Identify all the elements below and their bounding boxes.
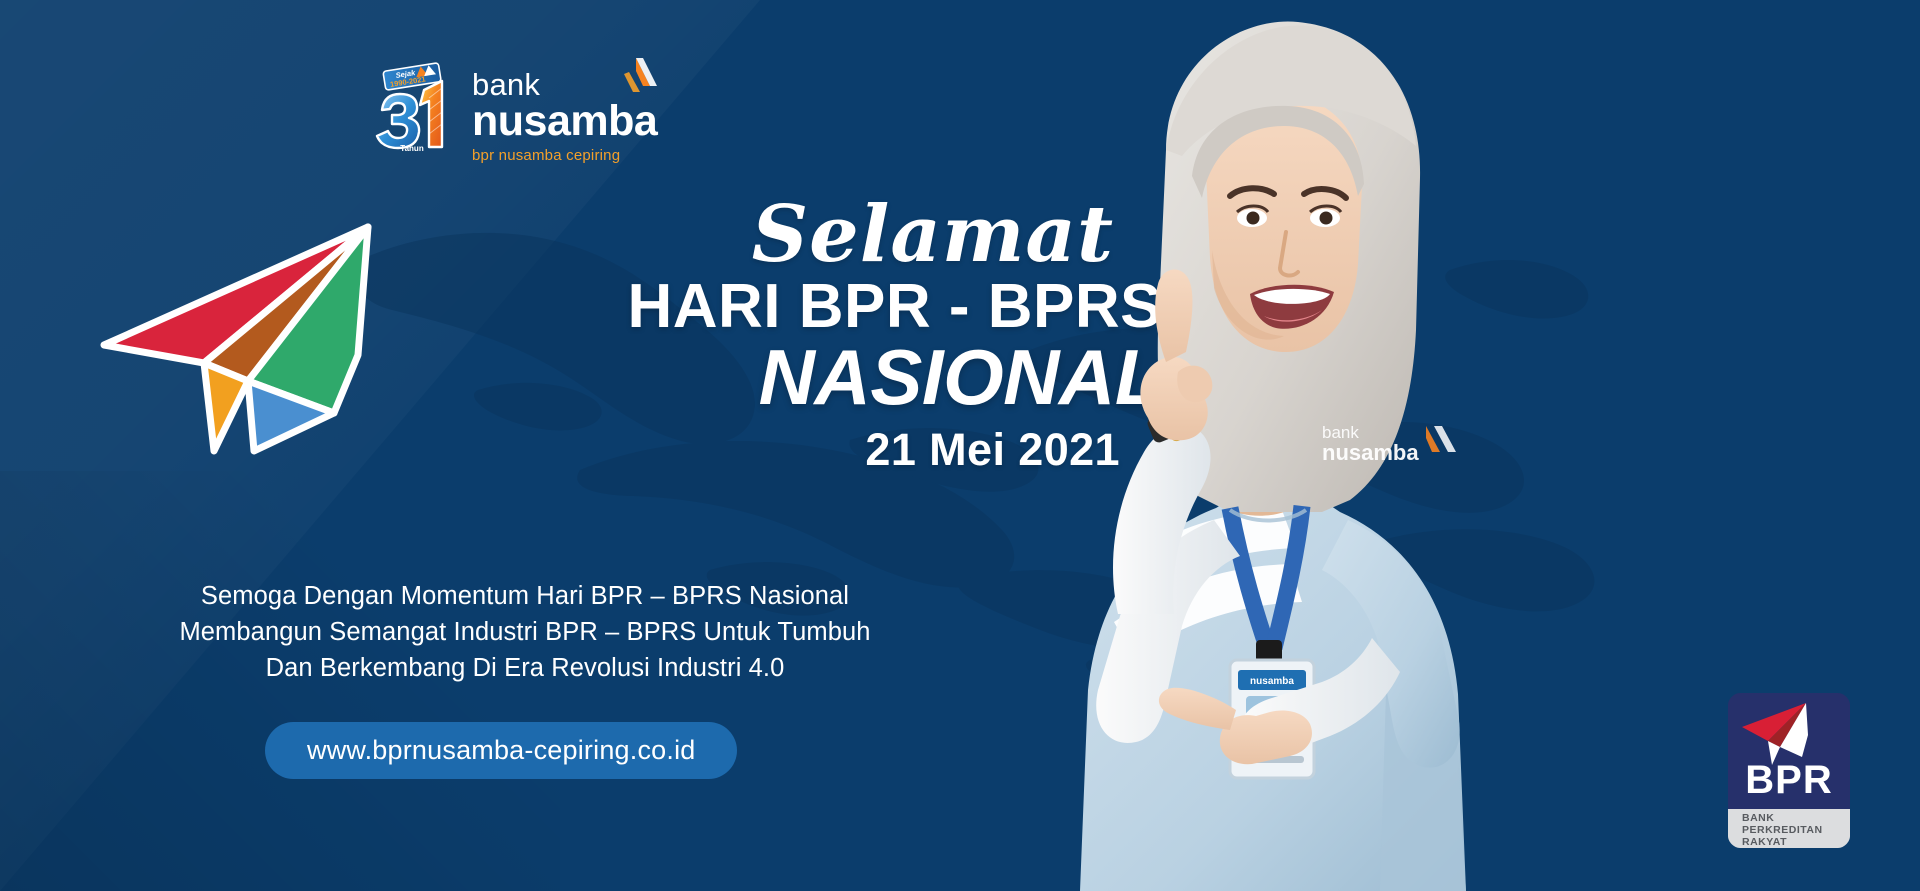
brand-subtitle: bpr nusamba cepiring: [472, 147, 657, 164]
bpr-national-logo: BPR BANK PERKREDITAN RAKYAT: [1728, 693, 1850, 848]
bank-nusamba-wordmark: bank nusamba bpr nusamba cepiring: [472, 58, 657, 164]
svg-text:BPR: BPR: [1745, 758, 1832, 802]
svg-text:PERKREDITAN: PERKREDITAN: [1742, 824, 1823, 836]
anniversary-31-badge: Sejak 1990-2021 Tahun: [372, 58, 458, 158]
nusamba-chevron-icon: [609, 52, 663, 106]
svg-text:nusamba: nusamba: [1250, 676, 1294, 687]
paper-plane-icon: [96, 205, 396, 455]
svg-text:nusamba: nusamba: [1322, 440, 1419, 465]
bank-staff-photo: nusamba bank nusamba: [930, 0, 1570, 891]
svg-text:RAKYAT: RAKYAT: [1742, 836, 1787, 848]
brand-line-nusamba: nusamba: [472, 100, 657, 143]
tagline-line-3: Dan Berkembang Di Era Revolusi Industri …: [110, 650, 940, 686]
website-url-pill[interactable]: www.bprnusamba-cepiring.co.id: [265, 722, 737, 779]
tagline-line-1: Semoga Dengan Momentum Hari BPR – BPRS N…: [110, 578, 940, 614]
promotional-banner: Sejak 1990-2021 Tahun bank nusamba bpr n…: [0, 0, 1920, 891]
brand-logo-lockup: Sejak 1990-2021 Tahun bank nusamba bpr n…: [372, 58, 657, 164]
svg-text:Tahun: Tahun: [400, 144, 424, 153]
tagline-line-2: Membangun Semangat Industri BPR – BPRS U…: [110, 614, 940, 650]
tagline-paragraph: Semoga Dengan Momentum Hari BPR – BPRS N…: [110, 578, 940, 687]
svg-text:BANK: BANK: [1742, 812, 1774, 824]
